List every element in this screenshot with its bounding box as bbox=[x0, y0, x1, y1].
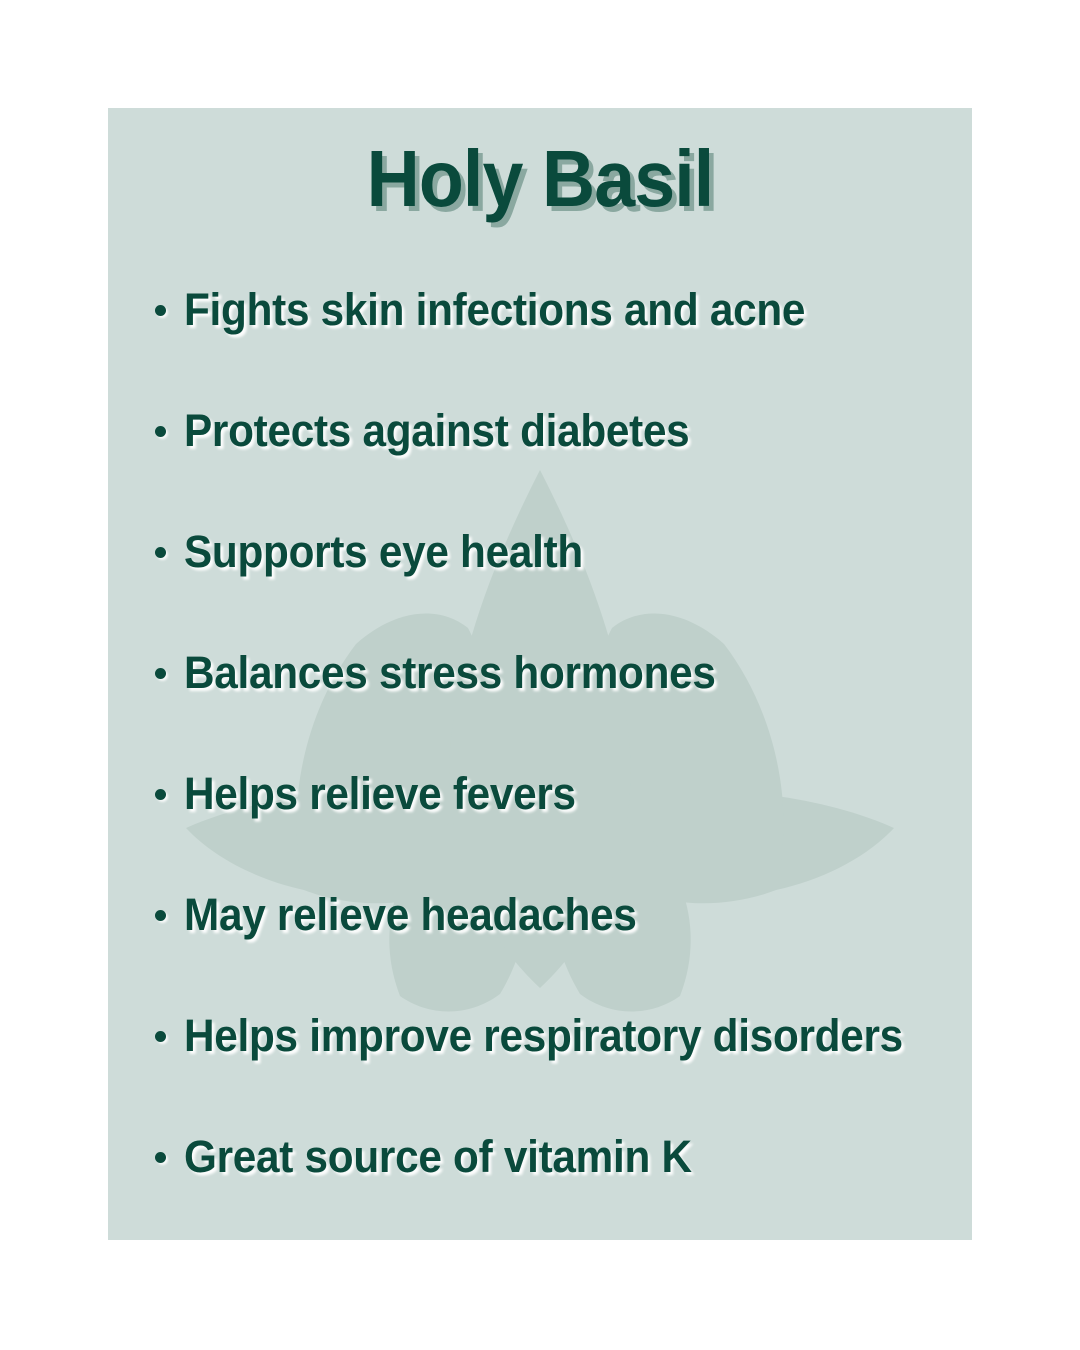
benefit-label: Balances stress hormones bbox=[184, 649, 716, 696]
benefit-label: Helps relieve fevers bbox=[184, 770, 576, 817]
list-item: Supports eye health bbox=[155, 524, 608, 580]
list-item: Helps relieve fevers bbox=[155, 766, 601, 822]
bullet-dot-icon bbox=[155, 426, 166, 437]
benefits-list: Fights skin infections and acne Protects… bbox=[108, 108, 972, 1240]
poster-canvas: Holy Basil Fights skin infections and ac… bbox=[0, 0, 1080, 1350]
list-item: Fights skin infections and acne bbox=[155, 282, 845, 338]
list-item: Protects against diabetes bbox=[155, 403, 722, 459]
benefit-label: Protects against diabetes bbox=[184, 407, 689, 454]
list-item: Great source of vitamin K bbox=[155, 1129, 724, 1185]
bullet-dot-icon bbox=[155, 305, 166, 316]
bullet-dot-icon bbox=[155, 547, 166, 558]
benefit-label: Supports eye health bbox=[184, 528, 583, 575]
bullet-dot-icon bbox=[155, 668, 166, 679]
bullet-dot-icon bbox=[155, 789, 166, 800]
benefit-label: Helps improve respiratory disorders bbox=[184, 1012, 903, 1059]
benefit-label: May relieve headaches bbox=[184, 891, 637, 938]
benefit-label: Great source of vitamin K bbox=[184, 1133, 692, 1180]
content-card: Holy Basil Fights skin infections and ac… bbox=[108, 108, 972, 1240]
list-item: Helps improve respiratory disorders bbox=[155, 1008, 949, 1064]
bullet-dot-icon bbox=[155, 910, 166, 921]
benefit-label: Fights skin infections and acne bbox=[184, 286, 805, 333]
list-item: Balances stress hormones bbox=[155, 645, 750, 701]
list-item: May relieve headaches bbox=[155, 887, 666, 943]
bullet-dot-icon bbox=[155, 1031, 166, 1042]
bullet-dot-icon bbox=[155, 1152, 166, 1163]
